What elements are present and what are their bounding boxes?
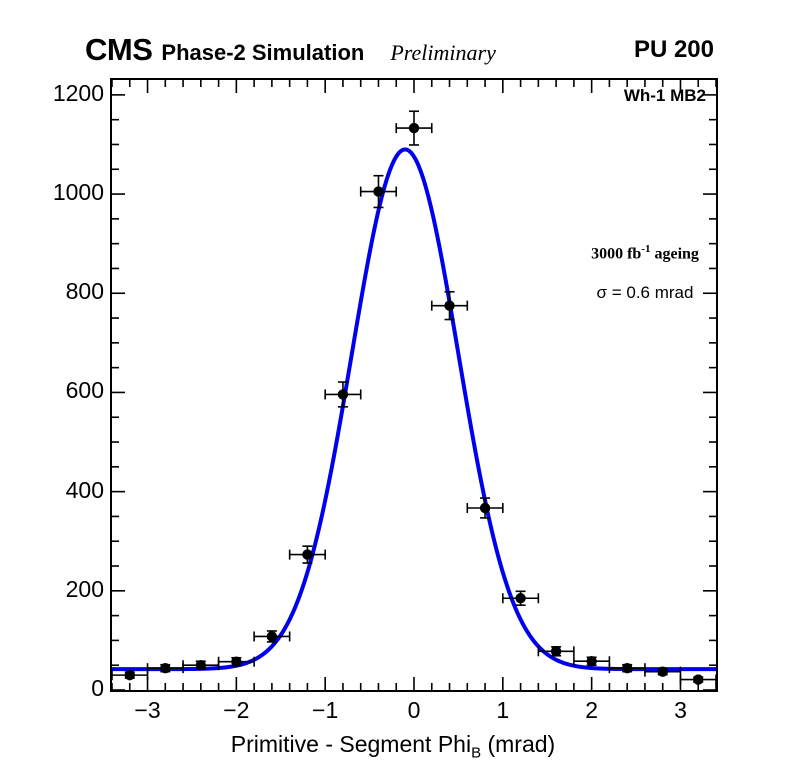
y-tick-label: 600 — [8, 377, 104, 404]
data-point — [361, 176, 397, 208]
y-tick-label: 200 — [8, 576, 104, 603]
y-tick-label: 0 — [8, 675, 104, 702]
cms-logo-text: CMS — [85, 34, 152, 65]
cms-header-left: CMS Phase-2 Simulation Preliminary — [85, 34, 496, 68]
data-point — [396, 111, 432, 145]
x-tick-label: −1 — [305, 697, 345, 724]
x-axis-ticklabels: −3−2−10123 — [110, 697, 718, 727]
axis-ticks — [112, 80, 716, 690]
chamber-label: Wh-1 MB2 — [624, 86, 706, 106]
data-point — [680, 674, 716, 684]
x-tick-label: 1 — [483, 697, 523, 724]
data-point — [538, 646, 574, 656]
fit-curve — [112, 149, 716, 669]
simulation-label: Phase-2 Simulation — [161, 37, 364, 68]
plot-canvas: CMS Phase-2 Simulation Preliminary PU 20… — [0, 0, 796, 772]
data-point — [219, 657, 255, 667]
x-tick-label: −3 — [128, 697, 168, 724]
data-point — [290, 546, 326, 563]
plot-frame: Wh-1 MB2 3000 fb-1 ageing σ = 0.6 mrad — [110, 78, 718, 692]
plot-graphics — [112, 80, 716, 690]
x-axis-title-unit: (mrad) — [481, 731, 555, 757]
data-point — [112, 670, 148, 680]
data-point — [467, 498, 503, 518]
preliminary-label: Preliminary — [390, 37, 496, 68]
x-tick-label: 3 — [660, 697, 700, 724]
pileup-label: PU 200 — [634, 34, 714, 65]
x-axis-title-main: Primitive - Segment Phi — [231, 731, 471, 757]
y-tick-label: 1200 — [8, 80, 104, 107]
x-axis-title: Primitive - Segment PhiB (mrad) — [0, 731, 796, 762]
plot-header: CMS Phase-2 Simulation Preliminary PU 20… — [0, 34, 796, 68]
y-axis-ticklabels: 020040060080010001200 — [0, 78, 104, 692]
y-tick-label: 800 — [8, 278, 104, 305]
y-tick-label: 1000 — [8, 179, 104, 206]
data-point — [148, 663, 184, 673]
data-point — [432, 292, 468, 320]
data-series — [112, 111, 716, 685]
x-tick-label: −2 — [216, 697, 256, 724]
y-tick-label: 400 — [8, 477, 104, 504]
x-tick-label: 0 — [394, 697, 434, 724]
data-point — [609, 663, 645, 673]
data-point — [325, 382, 361, 407]
x-axis-title-subscript: B — [471, 745, 481, 762]
x-tick-label: 2 — [572, 697, 612, 724]
